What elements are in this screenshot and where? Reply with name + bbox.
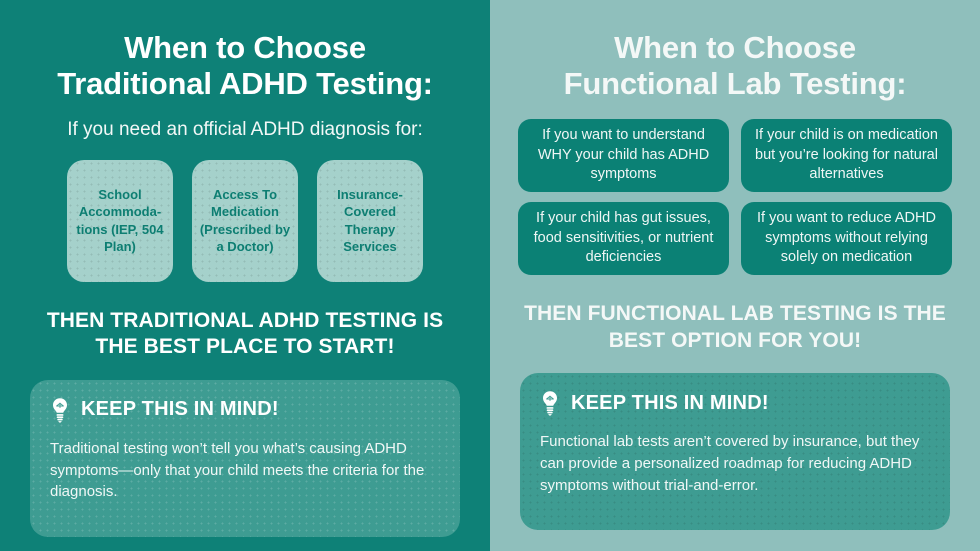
statement-box-understand-why: If you want to understand WHY your child… xyxy=(518,119,729,192)
left-heading-line-1: When to Choose xyxy=(124,30,366,65)
left-keep-in-mind-body: Traditional testing won’t tell you what’… xyxy=(50,438,440,503)
right-heading-line-2: Functional Lab Testing: xyxy=(564,66,907,101)
pill-access-to-medication: Access To Medication (Prescribed by a Do… xyxy=(192,160,298,282)
left-panel-traditional-adhd-testing: When to Choose Traditional ADHD Testing:… xyxy=(0,0,490,551)
pill-insurance-covered-therapy: Insurance-Covered Therapy Services xyxy=(317,160,423,282)
statement-text: If you want to understand WHY your child… xyxy=(528,126,719,184)
right-statement-grid: If you want to understand WHY your child… xyxy=(490,119,980,275)
statement-text: If you want to reduce ADHD symptoms with… xyxy=(751,209,942,267)
right-panel-heading: When to Choose Functional Lab Testing: xyxy=(512,30,958,102)
left-pill-row: School Accommoda-tions (IEP, 504 Plan) A… xyxy=(0,160,490,282)
left-keep-in-mind-title: KEEP THIS IN MIND! xyxy=(81,398,279,421)
left-panel-heading: When to Choose Traditional ADHD Testing: xyxy=(22,30,468,102)
left-then-statement: THEN TRADITIONAL ADHD TESTING IS THE BES… xyxy=(24,308,466,361)
statement-text: If your child is on medication but you’r… xyxy=(751,126,942,184)
statement-text: If your child has gut issues, food sensi… xyxy=(528,209,719,267)
pill-label: Access To Medication (Prescribed by a Do… xyxy=(197,186,293,255)
lightbulb-icon xyxy=(540,390,560,416)
left-then-line-2: THE BEST PLACE TO START! xyxy=(95,335,394,358)
pill-label: School Accommoda-tions (IEP, 504 Plan) xyxy=(72,186,168,255)
left-panel-subheading: If you need an official ADHD diagnosis f… xyxy=(20,118,470,142)
left-keep-in-mind-card: KEEP THIS IN MIND! Traditional testing w… xyxy=(30,380,460,537)
statement-box-natural-alternatives: If your child is on medication but you’r… xyxy=(741,119,952,192)
right-then-line-1: THEN FUNCTIONAL LAB TESTING IS THE xyxy=(524,302,946,325)
right-keep-in-mind-header: KEEP THIS IN MIND! xyxy=(540,390,930,416)
right-then-line-2: BEST OPTION FOR YOU! xyxy=(609,329,861,352)
pill-label: Insurance-Covered Therapy Services xyxy=(322,186,418,255)
comparison-infographic: When to Choose Traditional ADHD Testing:… xyxy=(0,0,980,551)
right-then-statement: THEN FUNCTIONAL LAB TESTING IS THE BEST … xyxy=(506,301,964,354)
right-panel-functional-lab-testing: When to Choose Functional Lab Testing: I… xyxy=(490,0,980,551)
right-keep-in-mind-body: Functional lab tests aren’t covered by i… xyxy=(540,431,930,496)
pill-school-accommodations: School Accommoda-tions (IEP, 504 Plan) xyxy=(67,160,173,282)
statement-box-gut-issues: If your child has gut issues, food sensi… xyxy=(518,202,729,275)
right-keep-in-mind-title: KEEP THIS IN MIND! xyxy=(571,392,769,415)
statement-box-reduce-symptoms: If you want to reduce ADHD symptoms with… xyxy=(741,202,952,275)
lightbulb-icon xyxy=(50,397,70,423)
right-heading-line-1: When to Choose xyxy=(614,30,856,65)
left-keep-in-mind-header: KEEP THIS IN MIND! xyxy=(50,397,440,423)
right-keep-in-mind-card: KEEP THIS IN MIND! Functional lab tests … xyxy=(520,373,950,530)
left-then-line-1: THEN TRADITIONAL ADHD TESTING IS xyxy=(47,309,443,332)
left-heading-line-2: Traditional ADHD Testing: xyxy=(57,66,433,101)
